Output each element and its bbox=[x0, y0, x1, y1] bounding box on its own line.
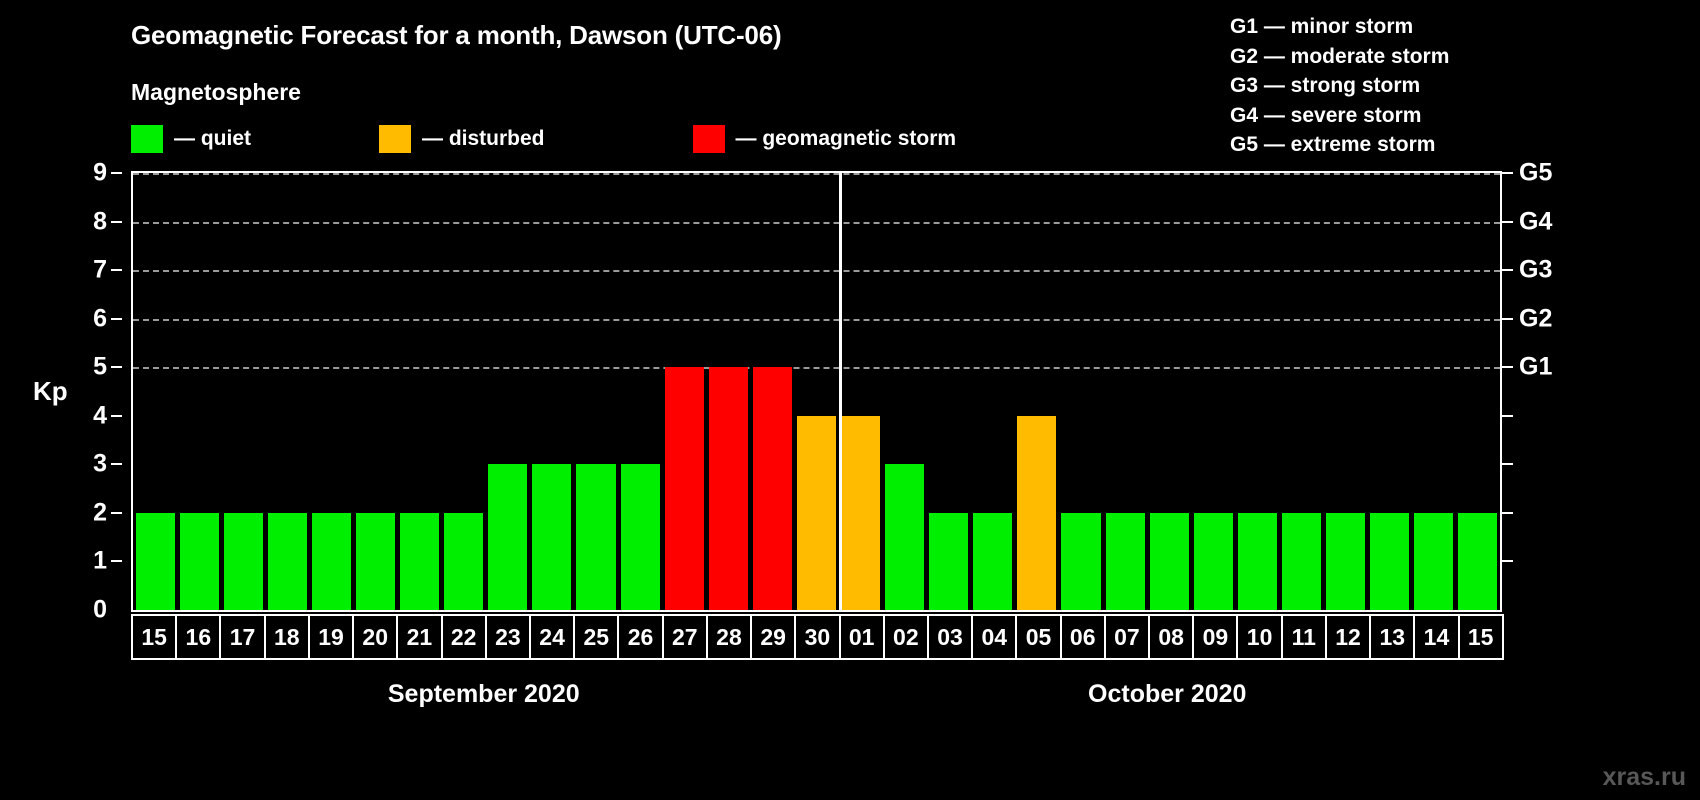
bar-slot bbox=[794, 173, 838, 610]
bar-slot bbox=[530, 173, 574, 610]
bar[interactable] bbox=[1150, 513, 1189, 610]
y-tick-label-1: 1 bbox=[93, 547, 107, 576]
y-tick-label-9: 9 bbox=[93, 159, 107, 188]
g-scale-legend-row-4: G4 — severe storm bbox=[1230, 101, 1449, 131]
g-axis-tick-G3 bbox=[1502, 269, 1513, 271]
g-axis-label-G2: G2 bbox=[1519, 304, 1552, 333]
g-axis-tick-minor-1 bbox=[1502, 560, 1513, 562]
legend-swatch-storm bbox=[693, 125, 725, 153]
date-cell[interactable]: 27 bbox=[662, 614, 708, 660]
bar-slot bbox=[1059, 173, 1103, 610]
bar[interactable] bbox=[665, 367, 704, 610]
bar-slot bbox=[353, 173, 397, 610]
month-caption-1: September 2020 bbox=[131, 680, 837, 709]
bar-slot bbox=[398, 173, 442, 610]
y-tick-mark-5 bbox=[111, 366, 122, 368]
bars-layer bbox=[133, 173, 1500, 610]
y-tick-mark-8 bbox=[111, 221, 122, 223]
magnetosphere-legend: — quiet— disturbed— geomagnetic storm bbox=[131, 124, 956, 154]
bar-slot bbox=[618, 173, 662, 610]
g-axis-label-G1: G1 bbox=[1519, 353, 1552, 382]
bar[interactable] bbox=[885, 464, 924, 610]
bar-slot bbox=[706, 173, 750, 610]
y-tick-label-5: 5 bbox=[93, 353, 107, 382]
bar-slot bbox=[1279, 173, 1323, 610]
date-cell[interactable]: 14 bbox=[1413, 614, 1459, 660]
bar-slot bbox=[221, 173, 265, 610]
date-cell[interactable]: 07 bbox=[1104, 614, 1150, 660]
legend-entry-disturbed: — disturbed bbox=[379, 124, 545, 154]
bar-slot bbox=[839, 173, 883, 610]
bar-slot bbox=[883, 173, 927, 610]
date-cell[interactable]: 17 bbox=[219, 614, 265, 660]
g-scale-legend-row-2: G2 — moderate storm bbox=[1230, 42, 1449, 72]
g-axis-tick-minor-3 bbox=[1502, 463, 1513, 465]
bar-slot bbox=[1324, 173, 1368, 610]
bar[interactable] bbox=[1061, 513, 1100, 610]
g-scale-legend-row-3: G3 — strong storm bbox=[1230, 71, 1449, 101]
date-cell[interactable]: 30 bbox=[794, 614, 840, 660]
legend-label-quiet: — quiet bbox=[174, 127, 251, 151]
bar[interactable] bbox=[1017, 416, 1056, 610]
y-tick-mark-4 bbox=[111, 415, 122, 417]
bar-slot bbox=[177, 173, 221, 610]
g-scale-legend: G1 — minor stormG2 — moderate stormG3 — … bbox=[1230, 12, 1449, 160]
y-tick-mark-6 bbox=[111, 318, 122, 320]
g-scale-axis: G1G2G3G4G5 bbox=[1502, 171, 1582, 612]
legend-entry-quiet: — quiet bbox=[131, 124, 251, 154]
date-cell[interactable]: 05 bbox=[1015, 614, 1061, 660]
g-axis-tick-G2 bbox=[1502, 318, 1513, 320]
g-axis-label-G3: G3 bbox=[1519, 256, 1552, 285]
bar[interactable] bbox=[576, 464, 615, 610]
month-caption-2: October 2020 bbox=[837, 680, 1498, 709]
bar-slot bbox=[662, 173, 706, 610]
y-tick-label-3: 3 bbox=[93, 450, 107, 479]
bar-slot bbox=[1191, 173, 1235, 610]
bar-slot bbox=[927, 173, 971, 610]
bar[interactable] bbox=[1282, 513, 1321, 610]
bar-slot bbox=[1015, 173, 1059, 610]
legend-label-disturbed: — disturbed bbox=[422, 127, 545, 151]
date-cell[interactable]: 06 bbox=[1060, 614, 1106, 660]
date-cell[interactable]: 09 bbox=[1192, 614, 1238, 660]
bar[interactable] bbox=[268, 513, 307, 610]
g-scale-legend-row-5: G5 — extreme storm bbox=[1230, 130, 1449, 160]
bar[interactable] bbox=[1326, 513, 1365, 610]
bar[interactable] bbox=[488, 464, 527, 610]
y-tick-label-4: 4 bbox=[93, 401, 107, 430]
date-cell[interactable]: 28 bbox=[706, 614, 752, 660]
bar[interactable] bbox=[1370, 513, 1409, 610]
g-axis-tick-minor-2 bbox=[1502, 512, 1513, 514]
y-tick-mark-1 bbox=[111, 560, 122, 562]
y-tick-mark-7 bbox=[111, 269, 122, 271]
g-axis-tick-G1 bbox=[1502, 366, 1513, 368]
date-cell[interactable]: 26 bbox=[617, 614, 663, 660]
bar[interactable] bbox=[1458, 513, 1497, 610]
date-cell[interactable]: 22 bbox=[441, 614, 487, 660]
y-tick-label-8: 8 bbox=[93, 207, 107, 236]
date-cell[interactable]: 08 bbox=[1148, 614, 1194, 660]
y-tick-mark-9 bbox=[111, 172, 122, 174]
date-cell[interactable]: 19 bbox=[308, 614, 354, 660]
bar[interactable] bbox=[1414, 513, 1453, 610]
date-cell[interactable]: 11 bbox=[1281, 614, 1327, 660]
date-cell[interactable]: 15 bbox=[1458, 614, 1504, 660]
magnetosphere-heading: Magnetosphere bbox=[131, 79, 301, 106]
bar-slot bbox=[1103, 173, 1147, 610]
bar[interactable] bbox=[797, 416, 836, 610]
bar[interactable] bbox=[136, 513, 175, 610]
plot-inner bbox=[133, 173, 1500, 610]
bar-slot bbox=[265, 173, 309, 610]
bar-slot bbox=[574, 173, 618, 610]
date-cell[interactable]: 13 bbox=[1369, 614, 1415, 660]
bar-slot bbox=[1412, 173, 1456, 610]
bar[interactable] bbox=[224, 513, 263, 610]
bar[interactable] bbox=[841, 416, 880, 610]
y-tick-label-2: 2 bbox=[93, 498, 107, 527]
bar-slot bbox=[1368, 173, 1412, 610]
date-cell[interactable]: 29 bbox=[750, 614, 796, 660]
date-cell[interactable]: 18 bbox=[264, 614, 310, 660]
bar[interactable] bbox=[973, 513, 1012, 610]
bar[interactable] bbox=[1238, 513, 1277, 610]
g-scale-legend-row-1: G1 — minor storm bbox=[1230, 12, 1449, 42]
date-cell[interactable]: 20 bbox=[352, 614, 398, 660]
date-cell[interactable]: 16 bbox=[175, 614, 221, 660]
month-divider-line bbox=[839, 171, 842, 612]
date-cell[interactable]: 10 bbox=[1236, 614, 1282, 660]
date-cell[interactable]: 12 bbox=[1325, 614, 1371, 660]
date-axis: 1516171819202122232425262728293001020304… bbox=[131, 614, 1502, 660]
g-axis-tick-G5 bbox=[1502, 172, 1513, 174]
legend-swatch-disturbed bbox=[379, 125, 411, 153]
bar[interactable] bbox=[444, 513, 483, 610]
date-cell[interactable]: 24 bbox=[529, 614, 575, 660]
y-tick-label-6: 6 bbox=[93, 304, 107, 333]
bar[interactable] bbox=[753, 367, 792, 610]
y-tick-mark-3 bbox=[111, 463, 122, 465]
bar[interactable] bbox=[1106, 513, 1145, 610]
watermark: xras.ru bbox=[1603, 763, 1686, 792]
bar-slot bbox=[442, 173, 486, 610]
y-axis-title: Kp bbox=[33, 376, 68, 407]
date-cell[interactable]: 04 bbox=[971, 614, 1017, 660]
legend-swatch-quiet bbox=[131, 125, 163, 153]
bar[interactable] bbox=[929, 513, 968, 610]
bar-slot bbox=[309, 173, 353, 610]
bar[interactable] bbox=[400, 513, 439, 610]
bar[interactable] bbox=[356, 513, 395, 610]
date-cell[interactable]: 15 bbox=[131, 614, 177, 660]
date-cell[interactable]: 02 bbox=[883, 614, 929, 660]
date-cell[interactable]: 23 bbox=[485, 614, 531, 660]
page-title: Geomagnetic Forecast for a month, Dawson… bbox=[131, 20, 781, 51]
bar-slot bbox=[1456, 173, 1500, 610]
bar[interactable] bbox=[621, 464, 660, 610]
y-axis: 0123456789 bbox=[78, 171, 122, 612]
bar[interactable] bbox=[532, 464, 571, 610]
legend-label-storm: — geomagnetic storm bbox=[736, 127, 957, 151]
g-axis-label-G5: G5 bbox=[1519, 159, 1552, 188]
bar[interactable] bbox=[180, 513, 219, 610]
chart-plot-area bbox=[131, 171, 1502, 612]
y-tick-label-0: 0 bbox=[93, 596, 107, 625]
bar[interactable] bbox=[312, 513, 351, 610]
g-axis-tick-minor-4 bbox=[1502, 415, 1513, 417]
bar[interactable] bbox=[1194, 513, 1233, 610]
g-axis-tick-G4 bbox=[1502, 221, 1513, 223]
bar-slot bbox=[1235, 173, 1279, 610]
bar-slot bbox=[750, 173, 794, 610]
date-cell[interactable]: 25 bbox=[573, 614, 619, 660]
bar-slot bbox=[971, 173, 1015, 610]
bar[interactable] bbox=[709, 367, 748, 610]
date-cell[interactable]: 03 bbox=[927, 614, 973, 660]
legend-entry-storm: — geomagnetic storm bbox=[693, 124, 957, 154]
y-tick-label-7: 7 bbox=[93, 256, 107, 285]
g-axis-label-G4: G4 bbox=[1519, 207, 1552, 236]
date-cell[interactable]: 21 bbox=[396, 614, 442, 660]
y-tick-mark-2 bbox=[111, 512, 122, 514]
bar-slot bbox=[486, 173, 530, 610]
bar-slot bbox=[1147, 173, 1191, 610]
bar-slot bbox=[133, 173, 177, 610]
date-cell[interactable]: 01 bbox=[839, 614, 885, 660]
